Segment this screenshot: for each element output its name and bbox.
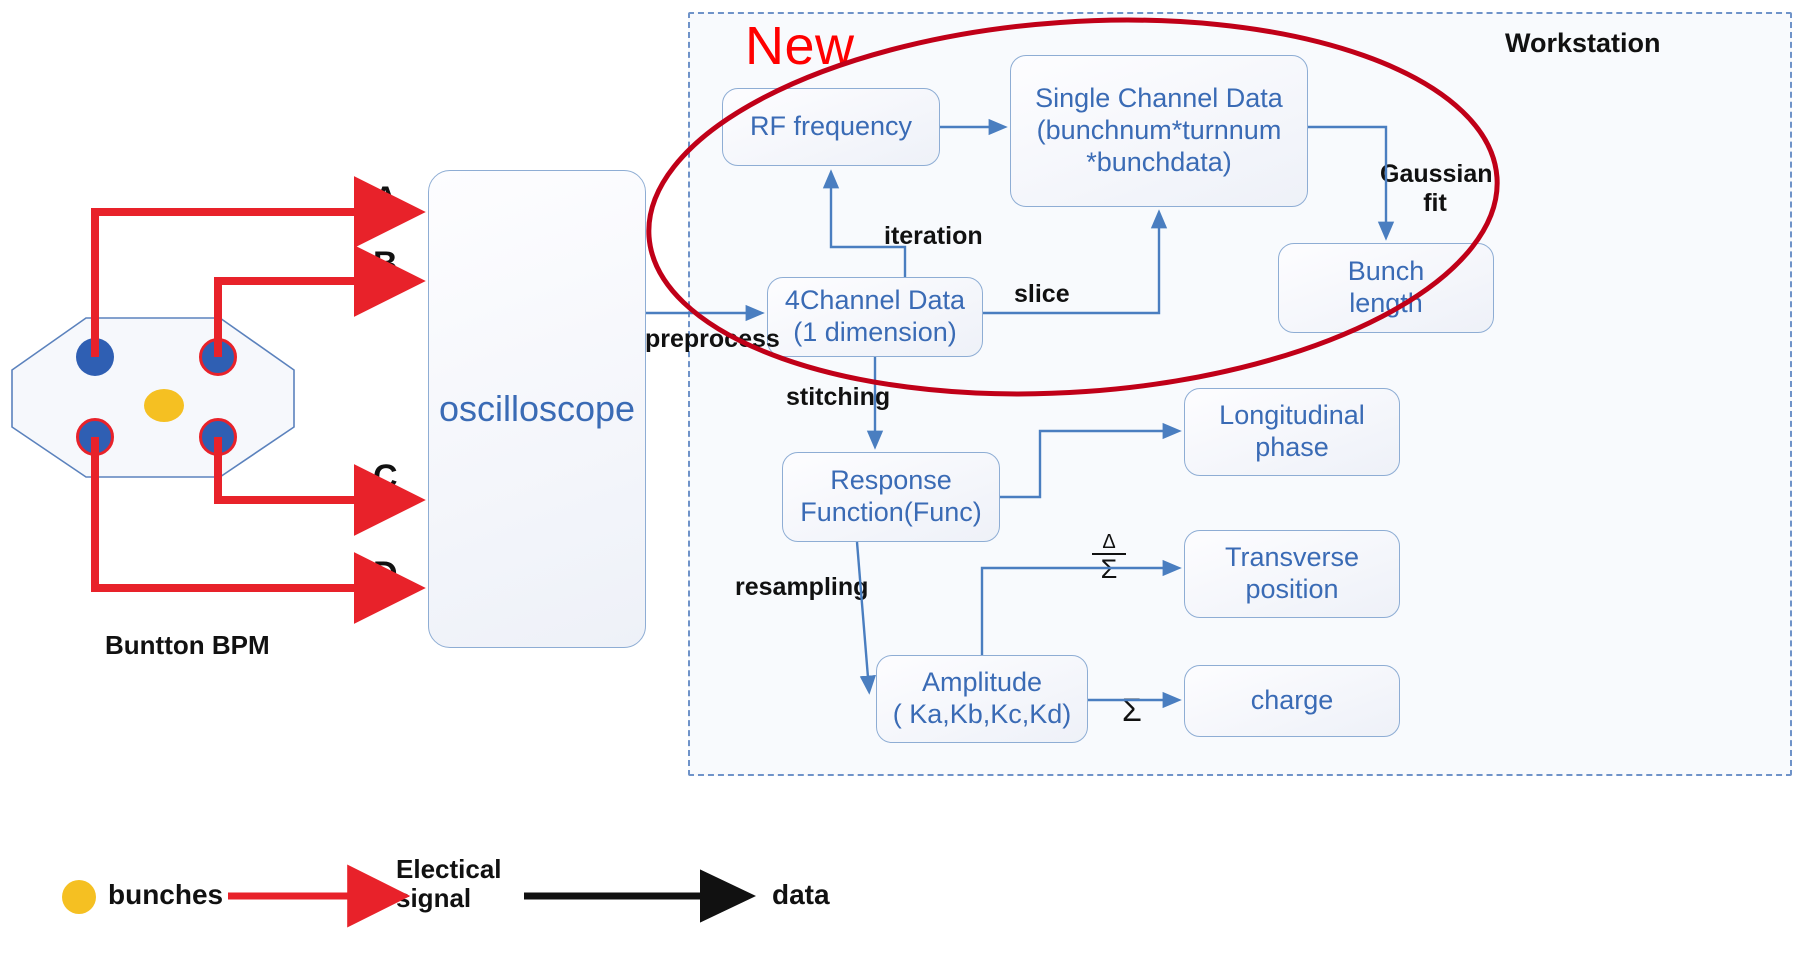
edge-label-stitching: stitching bbox=[786, 383, 890, 412]
node-single-channel-data[interactable]: Single Channel Data (bunchnum*turnnum *b… bbox=[1010, 55, 1308, 207]
legend-electrical-signal-label: Electical signal bbox=[396, 855, 502, 913]
legend-electrical-signal-line1: Electical bbox=[396, 855, 502, 884]
node-charge[interactable]: charge bbox=[1184, 665, 1400, 737]
edge-label-sigma: Σ bbox=[1122, 692, 1142, 729]
edge-label-iteration: iteration bbox=[884, 222, 983, 251]
electrode-b bbox=[199, 338, 237, 376]
node-amplitude[interactable]: Amplitude ( Ka,Kb,Kc,Kd) bbox=[876, 655, 1088, 743]
edge-label-slice: slice bbox=[1014, 280, 1070, 309]
node-longitudinal-phase[interactable]: Longitudinal phase bbox=[1184, 388, 1400, 476]
node-oscilloscope-label: oscilloscope bbox=[433, 388, 641, 430]
edge-label-delta-over-sigma: Δ Σ bbox=[1086, 532, 1132, 583]
edge-label-gaussian-fit: Gaussian fit bbox=[1380, 160, 1490, 218]
node-rf-frequency-label: RF frequency bbox=[744, 111, 918, 143]
node-rf-frequency[interactable]: RF frequency bbox=[722, 88, 940, 166]
edge-label-resampling: resampling bbox=[735, 573, 868, 602]
channel-label-b: B bbox=[373, 245, 398, 284]
workstation-label: Workstation bbox=[1505, 28, 1661, 59]
button-bpm-label: Buntton BPM bbox=[105, 630, 270, 661]
node-transverse-position[interactable]: Transverse position bbox=[1184, 530, 1400, 618]
delta-symbol: Δ bbox=[1086, 532, 1132, 552]
edge-label-gaussian-fit-line1: Gaussian bbox=[1380, 160, 1490, 189]
legend-bunch-icon bbox=[62, 880, 96, 914]
diagram-canvas: Buntton BPM oscilloscope RF frequency Si… bbox=[0, 0, 1801, 962]
electrode-d bbox=[76, 418, 114, 456]
node-four-channel-data-line2: (1 dimension) bbox=[787, 317, 963, 349]
node-longitudinal-phase-line1: Longitudinal bbox=[1213, 400, 1371, 432]
new-tag: New bbox=[745, 15, 855, 77]
node-bunch-length-line2: length bbox=[1343, 288, 1429, 320]
legend-electrical-signal-line2: signal bbox=[396, 884, 502, 913]
node-single-channel-data-line2: (bunchnum*turnnum bbox=[1031, 115, 1288, 147]
node-response-function-line1: Response bbox=[824, 465, 958, 497]
legend-data-label: data bbox=[772, 879, 830, 911]
node-bunch-length-line1: Bunch bbox=[1342, 256, 1431, 288]
electrode-a bbox=[76, 338, 114, 376]
node-oscilloscope[interactable]: oscilloscope bbox=[428, 170, 646, 648]
channel-label-c: C bbox=[373, 458, 398, 497]
node-single-channel-data-line1: Single Channel Data bbox=[1029, 83, 1289, 115]
node-four-channel-data[interactable]: 4Channel Data (1 dimension) bbox=[767, 277, 983, 357]
node-amplitude-line1: Amplitude bbox=[916, 667, 1048, 699]
sigma-symbol-denominator: Σ bbox=[1086, 556, 1132, 583]
edge-label-gaussian-fit-line2: fit bbox=[1380, 189, 1490, 218]
node-transverse-position-line2: position bbox=[1239, 574, 1344, 606]
legend-bunches-label: bunches bbox=[108, 879, 223, 911]
bunch-marker-icon bbox=[144, 389, 184, 422]
node-transverse-position-line1: Transverse bbox=[1219, 542, 1365, 574]
node-amplitude-line2: ( Ka,Kb,Kc,Kd) bbox=[887, 699, 1078, 731]
node-response-function[interactable]: Response Function(Func) bbox=[782, 452, 1000, 542]
channel-label-d: D bbox=[373, 555, 398, 594]
node-response-function-line2: Function(Func) bbox=[794, 497, 988, 529]
node-charge-label: charge bbox=[1245, 685, 1340, 717]
electrode-c bbox=[199, 418, 237, 456]
node-four-channel-data-line1: 4Channel Data bbox=[779, 285, 971, 317]
node-bunch-length[interactable]: Bunch length bbox=[1278, 243, 1494, 333]
channel-label-a: A bbox=[373, 180, 398, 219]
node-single-channel-data-line3: *bunchdata) bbox=[1080, 147, 1238, 179]
node-longitudinal-phase-line2: phase bbox=[1249, 432, 1335, 464]
edge-label-preprocess: preprocess bbox=[645, 325, 780, 354]
